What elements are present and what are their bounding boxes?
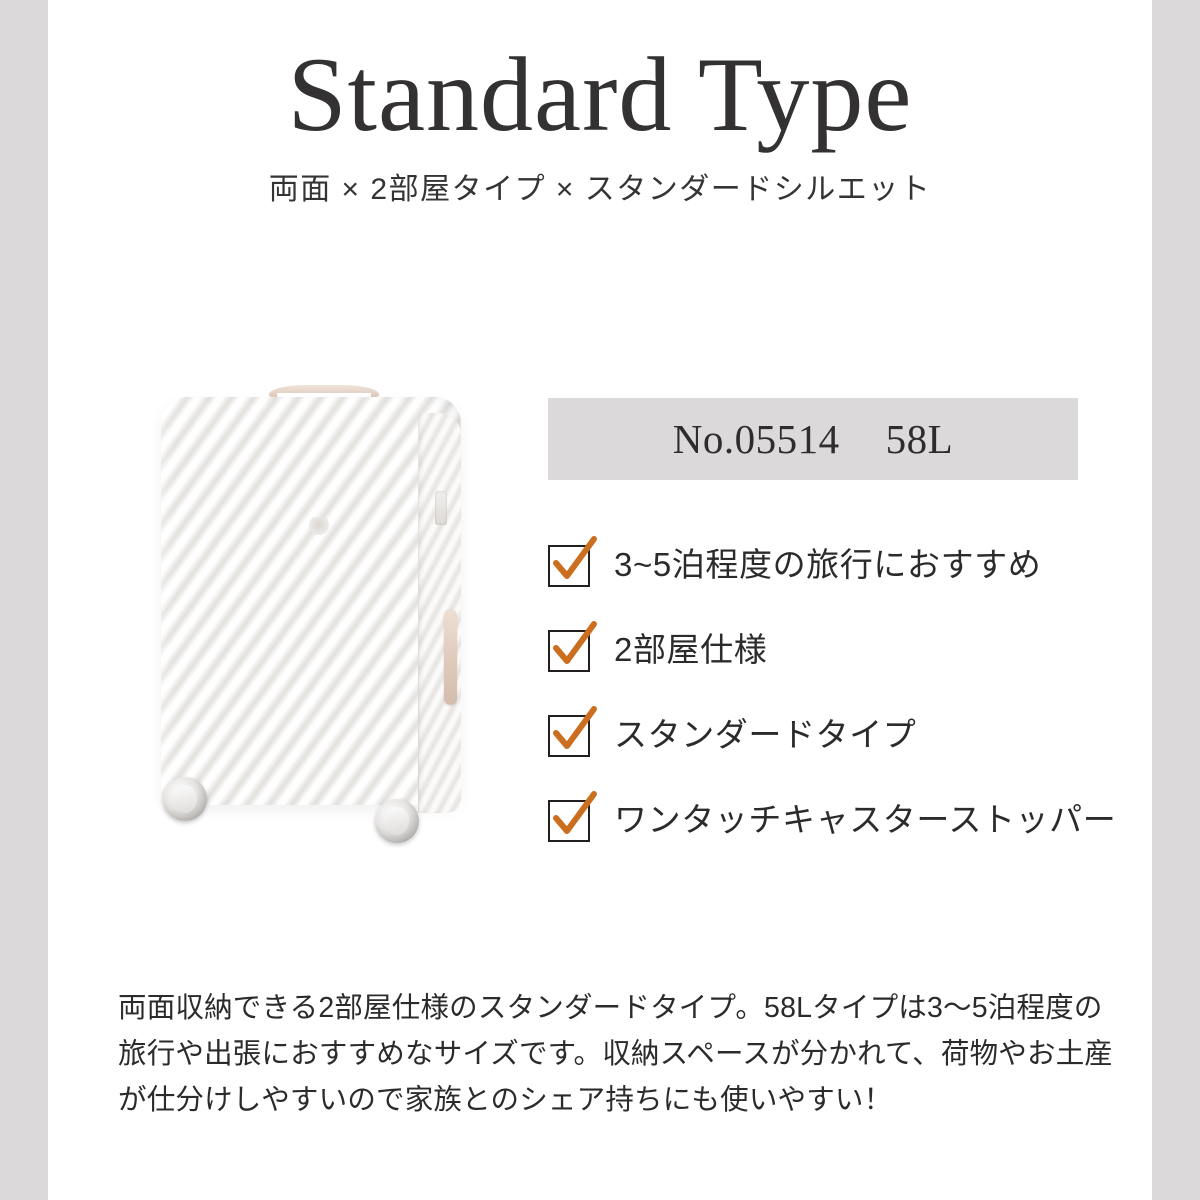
suitcase-illustration: [161, 385, 481, 815]
check-icon: [546, 618, 602, 674]
product-description: 両面収納できる2部屋仕様のスタンダードタイプ。58Lタイプは3〜5泊程度の旅行や…: [118, 985, 1128, 1123]
list-item: スタンダードタイプ: [548, 708, 1108, 763]
feature-label: ワンタッチキャスターストッパー: [614, 802, 1116, 838]
check-icon: [546, 703, 602, 759]
suitcase-side-handle: [444, 609, 457, 705]
page-header: Standard Type 両面 × 2部屋タイプ × スタンダードシルエット: [48, 0, 1152, 209]
feature-label: スタンダードタイプ: [614, 717, 916, 753]
list-item: 3~5泊程度の旅行におすすめ: [548, 538, 1108, 593]
product-info-column: No.05514 58L 3~5泊程度の旅行におすすめ: [548, 398, 1108, 878]
wheel-front-right: [375, 799, 419, 843]
right-frame-band: [1152, 0, 1200, 1200]
model-number: No.05514: [673, 415, 840, 463]
feature-list: 3~5泊程度の旅行におすすめ 2部屋仕様: [548, 538, 1108, 848]
product-detail-page: Standard Type 両面 × 2部屋タイプ × スタンダードシルエット: [0, 0, 1200, 1200]
feature-label: 3~5泊程度の旅行におすすめ: [614, 547, 1041, 583]
suitcase-side-panel: [419, 413, 461, 813]
content-area: Standard Type 両面 × 2部屋タイプ × スタンダードシルエット: [48, 0, 1152, 1200]
checkbox-checked: [548, 715, 590, 757]
brand-logo-icon: [309, 517, 329, 535]
tsa-lock-icon: [435, 491, 447, 525]
left-frame-band: [0, 0, 48, 1200]
checkbox-checked: [548, 545, 590, 587]
check-icon: [546, 788, 602, 844]
checkbox-checked: [548, 800, 590, 842]
suitcase-shell: [161, 397, 461, 805]
capacity-value: 58L: [886, 415, 954, 463]
model-info-box: No.05514 58L: [548, 398, 1078, 480]
feature-label: 2部屋仕様: [614, 632, 767, 668]
page-subtitle: 両面 × 2部屋タイプ × スタンダードシルエット: [48, 152, 1152, 209]
wheel-front-left: [163, 777, 207, 821]
page-title: Standard Type: [48, 0, 1152, 152]
product-image: [103, 355, 523, 885]
list-item: ワンタッチキャスターストッパー: [548, 793, 1108, 848]
list-item: 2部屋仕様: [548, 623, 1108, 678]
check-icon: [546, 533, 602, 589]
checkbox-checked: [548, 630, 590, 672]
